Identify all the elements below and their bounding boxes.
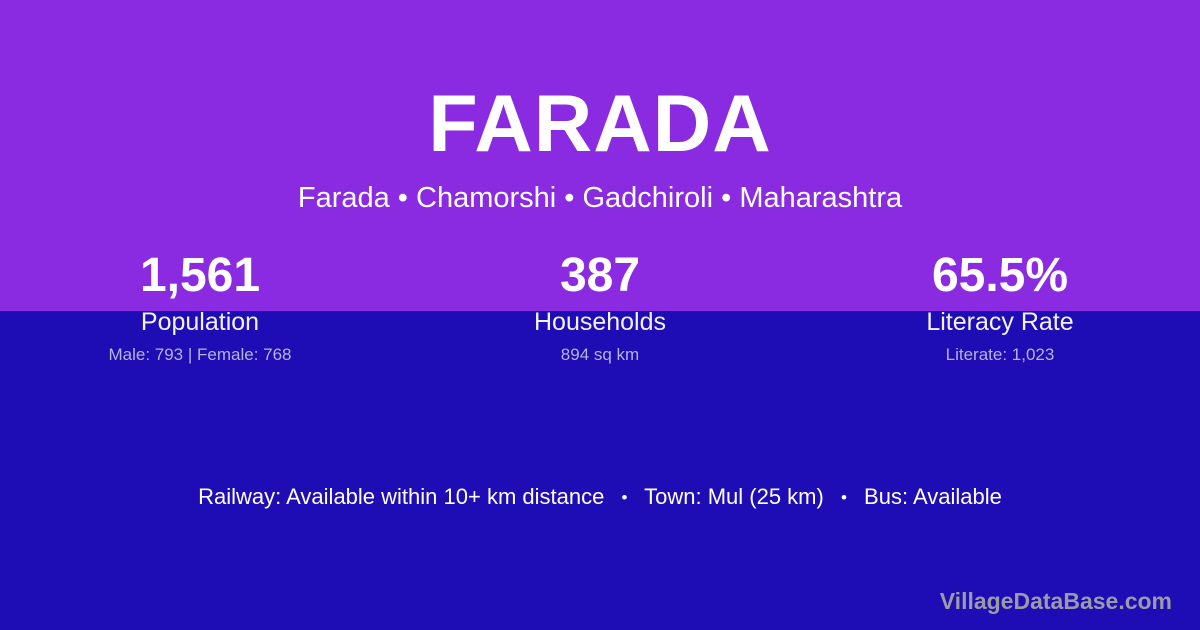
village-info-card: FARADA Farada • Chamorshi • Gadchiroli •… xyxy=(0,0,1200,630)
bullet-separator-icon: • xyxy=(610,488,638,508)
page-title: FARADA xyxy=(0,84,1200,165)
infra-railway: Railway: Available within 10+ km distanc… xyxy=(198,484,604,509)
stat-sub-population: Male: 793 | Female: 768 xyxy=(0,346,400,365)
stat-label-population: Population xyxy=(0,309,400,337)
stat-value-population: 1,561 xyxy=(0,250,400,303)
infra-bus: Bus: Available xyxy=(864,484,1002,509)
stats-row: 1,561 Population Male: 793 | Female: 768… xyxy=(0,250,1200,365)
stat-sub-literacy-rate: Literate: 1,023 xyxy=(800,346,1200,365)
breadcrumb: Farada • Chamorshi • Gadchiroli • Mahara… xyxy=(0,183,1200,215)
infrastructure-line: Railway: Available within 10+ km distanc… xyxy=(0,484,1200,510)
stat-households: 387 Households 894 sq km xyxy=(400,250,800,365)
stat-sub-households: 894 sq km xyxy=(400,346,800,365)
stat-value-households: 387 xyxy=(400,250,800,303)
card-content: FARADA Farada • Chamorshi • Gadchiroli •… xyxy=(0,0,1200,630)
stat-value-literacy-rate: 65.5% xyxy=(800,250,1200,303)
infra-town: Town: Mul (25 km) xyxy=(644,484,824,509)
site-watermark: VillageDataBase.com xyxy=(940,588,1172,616)
stat-label-households: Households xyxy=(400,309,800,337)
stat-literacy-rate: 65.5% Literacy Rate Literate: 1,023 xyxy=(800,250,1200,365)
stat-population: 1,561 Population Male: 793 | Female: 768 xyxy=(0,250,400,365)
bullet-separator-icon: • xyxy=(830,488,858,508)
stat-label-literacy-rate: Literacy Rate xyxy=(800,309,1200,337)
